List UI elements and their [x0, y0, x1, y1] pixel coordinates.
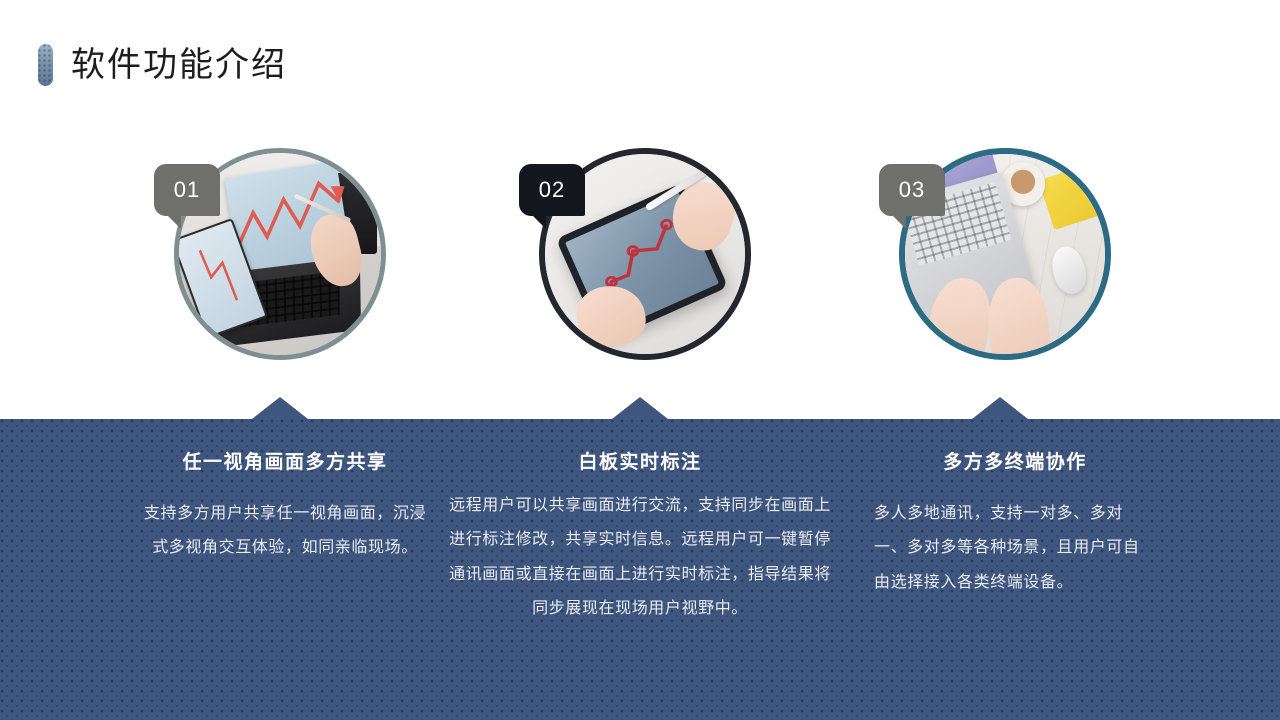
- feature-body-1: 支持多方用户共享任一视角画面，沉浸式多视角交互体验，如同亲临现场。: [110, 497, 460, 566]
- feature-text-1: 任一视角画面多方共享 支持多方用户共享任一视角画面，沉浸式多视角交互体验，如同亲…: [110, 419, 460, 566]
- feature-badge-3: 03: [879, 164, 945, 216]
- feature-number-1: 01: [174, 177, 200, 203]
- feature-number-2: 02: [539, 177, 565, 203]
- feature-circle-1[interactable]: 01: [174, 148, 386, 360]
- feature-heading-3: 多方多终端协作: [850, 452, 1180, 475]
- slide-root: 软件功能介绍: [0, 0, 1280, 720]
- feature-circle-3[interactable]: 03: [899, 148, 1111, 360]
- feature-circle-2[interactable]: 02: [539, 148, 751, 360]
- feature-badge-2: 02: [519, 164, 585, 216]
- chart-line-small-icon: [195, 242, 243, 315]
- feature-badge-1: 01: [154, 164, 220, 216]
- feature-number-3: 03: [899, 177, 925, 203]
- panel-notch-3: [972, 397, 1028, 419]
- feature-body-2: 远程用户可以共享画面进行交流，支持同步在画面上进行标注修改，共享实时信息。远程用…: [440, 489, 840, 627]
- feature-heading-1: 任一视角画面多方共享: [110, 452, 460, 475]
- feature-body-3: 多人多地通讯，支持一对多、多对一、多对多等各种场景，且用户可自由选择接入各类终端…: [850, 497, 1180, 600]
- feature-text-row: 任一视角画面多方共享 支持多方用户共享任一视角画面，沉浸式多视角交互体验，如同亲…: [0, 419, 1280, 720]
- panel-notch-1: [252, 397, 308, 419]
- feature-heading-2: 白板实时标注: [440, 452, 840, 475]
- feature-text-2: 白板实时标注 远程用户可以共享画面进行交流，支持同步在画面上进行标注修改，共享实…: [440, 419, 840, 626]
- feature-image-row: 01: [0, 0, 1280, 420]
- panel-notch-2: [612, 397, 668, 419]
- feature-text-3: 多方多终端协作 多人多地通讯，支持一对多、多对一、多对多等各种场景，且用户可自由…: [850, 419, 1180, 600]
